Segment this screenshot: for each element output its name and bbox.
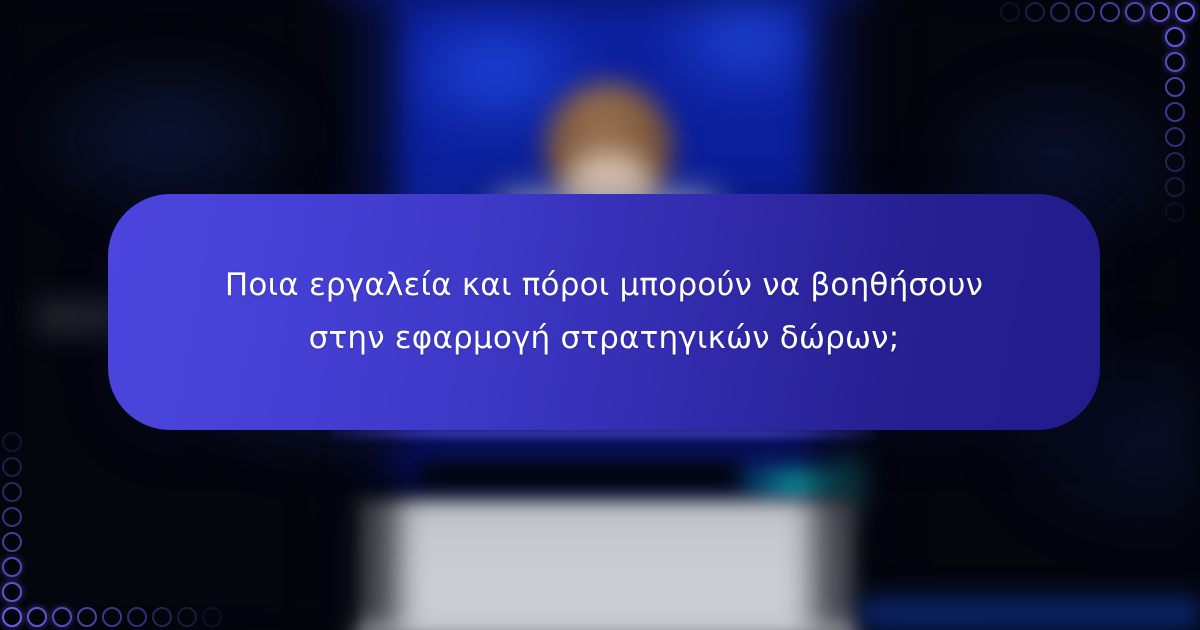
decorative-circle: [1165, 77, 1185, 97]
decorative-circle: [1150, 2, 1170, 22]
decorative-circle: [1000, 2, 1020, 22]
decorative-circle: [1165, 52, 1185, 72]
decorative-circle: [1050, 2, 1070, 22]
decorative-circle: [2, 582, 22, 602]
question-card: Ποια εργαλεία και πόροι μπορούν να βοηθή…: [108, 194, 1100, 430]
decorative-circle: [77, 607, 97, 627]
question-text: Ποια εργαλεία και πόροι μπορούν να βοηθή…: [204, 259, 1004, 365]
decorative-circle: [52, 607, 72, 627]
decorative-circle: [1165, 202, 1185, 222]
decorative-circle: [1165, 177, 1185, 197]
decorative-circle: [2, 457, 22, 477]
decorative-circle: [177, 607, 197, 627]
decorative-circle: [2, 607, 22, 627]
decorative-circle: [1025, 2, 1045, 22]
decorative-circle: [127, 607, 147, 627]
decorative-circle: [1175, 2, 1195, 22]
decorative-circle: [1165, 127, 1185, 147]
social-card-canvas: Ποια εργαλεία και πόροι μπορούν να βοηθή…: [0, 0, 1200, 630]
decorative-circle: [202, 607, 222, 627]
decorative-circle: [2, 482, 22, 502]
decorative-circle: [1165, 152, 1185, 172]
decorative-circle: [1165, 27, 1185, 47]
decorative-circle: [152, 607, 172, 627]
decorative-circle: [1075, 2, 1095, 22]
decorative-circle: [1125, 2, 1145, 22]
decorative-circle: [2, 432, 22, 452]
decorative-circle: [2, 557, 22, 577]
decorative-circle: [27, 607, 47, 627]
decorative-circle: [1100, 2, 1120, 22]
decorative-circle: [2, 507, 22, 527]
bottom-right-glow: [860, 588, 1200, 630]
decorative-circle: [1165, 102, 1185, 122]
decorative-circle: [102, 607, 122, 627]
decorative-circle: [2, 532, 22, 552]
